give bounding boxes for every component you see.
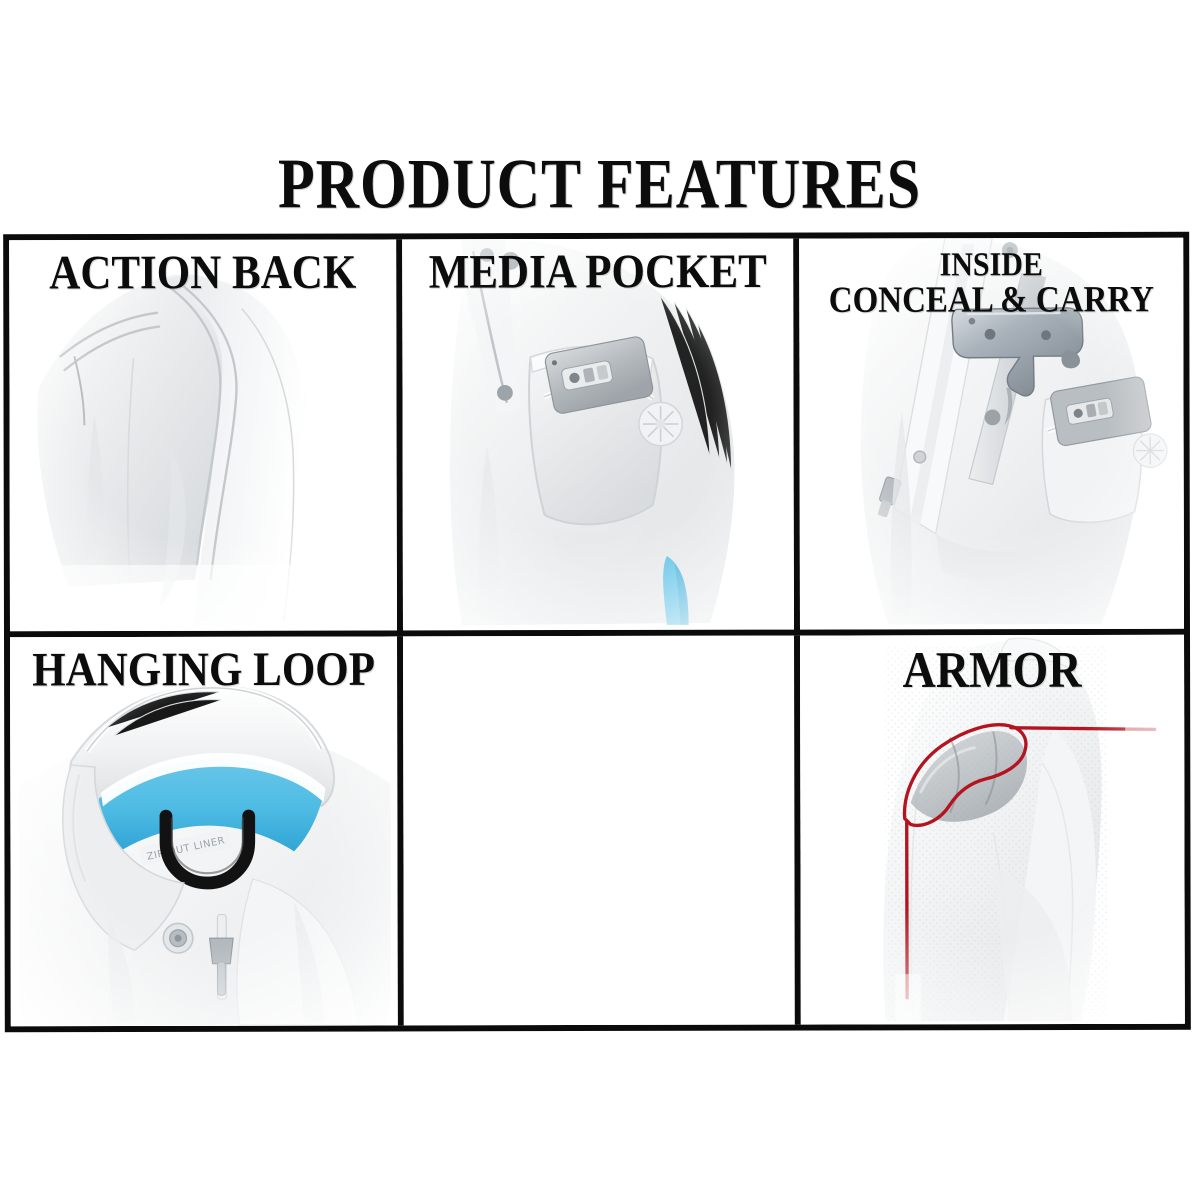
page-title: PRODUCT FEATURES (278, 149, 921, 220)
jacket-inside-conceal-carry-holster-photo (799, 238, 1184, 630)
feature-cell-inside-conceal-carry[interactable]: INSIDE CONCEAL & CARRY (799, 238, 1184, 636)
title-bar: PRODUCT FEATURES (0, 158, 1200, 220)
feature-cell-hanging-loop[interactable]: ZIP-OUT LINER (10, 636, 404, 1026)
jacket-shoulder-action-back-photo (9, 239, 397, 631)
jacket-shoulder-armor-highlight-photo (800, 635, 1185, 1025)
feature-cell-blank (403, 636, 801, 1026)
jacket-media-pocket-with-phone-photo (402, 239, 794, 631)
feature-cell-media-pocket[interactable]: MEDIA POCKET (402, 239, 800, 637)
jacket-collar-hanging-loop-photo: ZIP-OUT LINER (10, 636, 398, 1026)
feature-cell-action-back[interactable]: ACTION BACK (9, 239, 403, 637)
feature-cell-armor[interactable]: ARMOR (800, 635, 1185, 1025)
feature-grid: ACTION BACK (3, 232, 1191, 1032)
